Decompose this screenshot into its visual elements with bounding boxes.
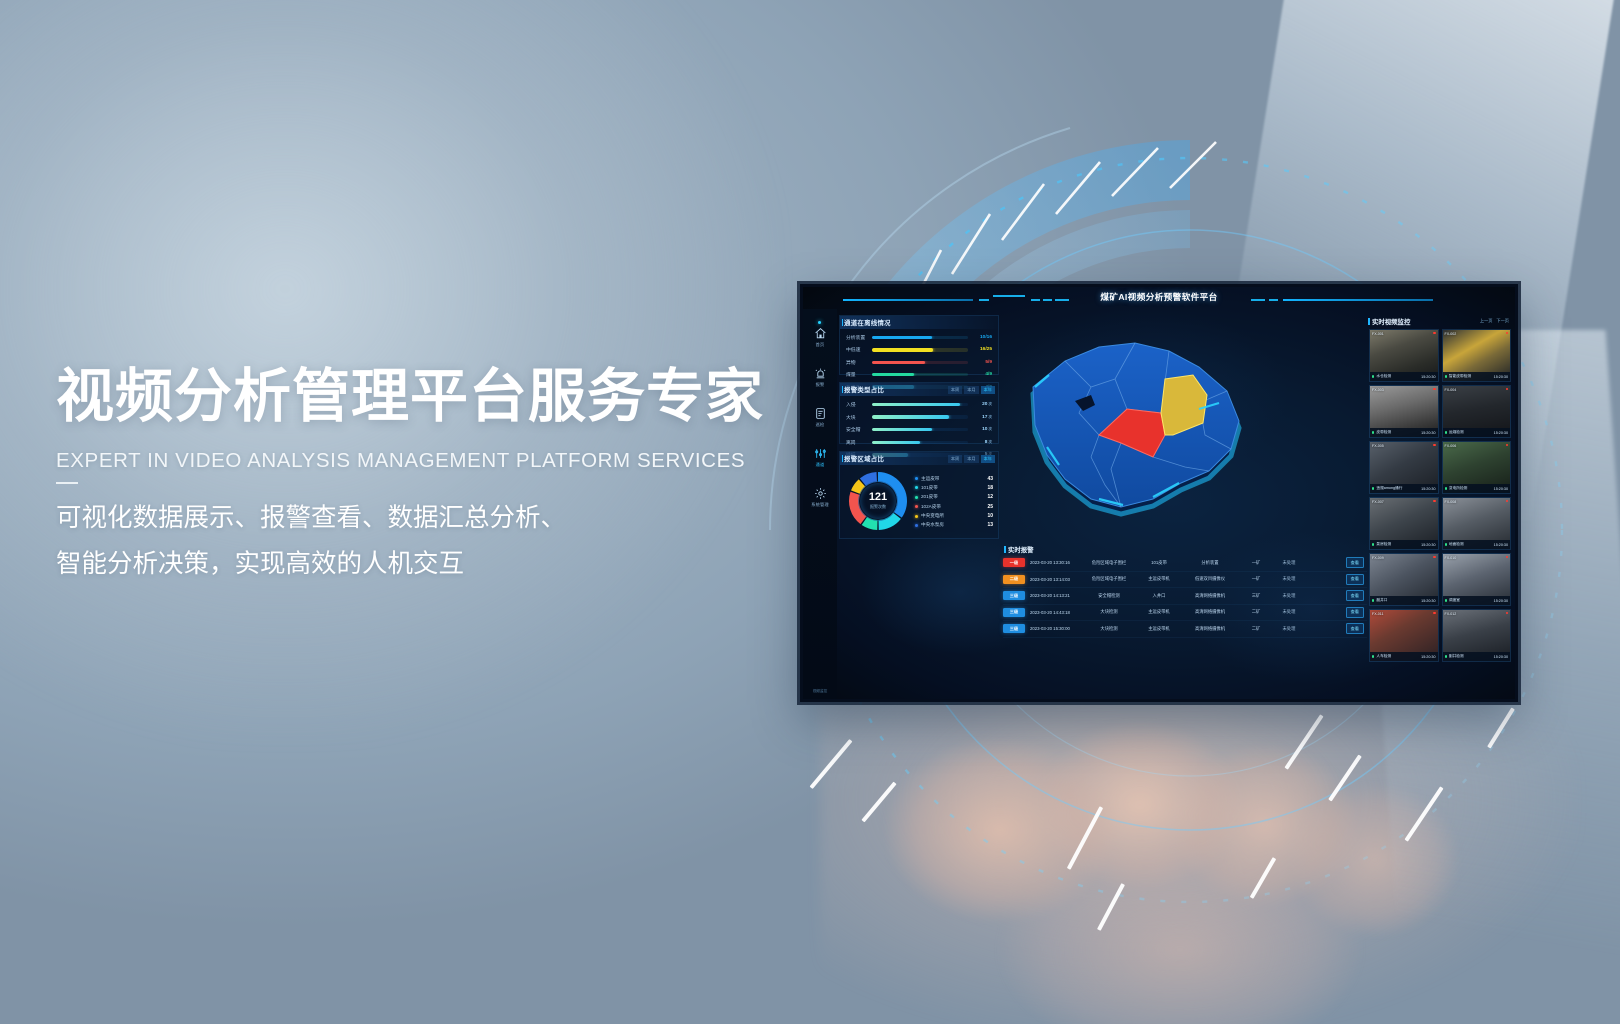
cell-time: 2023-03-20 13:30:16: [1025, 560, 1081, 565]
legend-item: 中央变电所10: [915, 513, 993, 519]
camera-id: FX-010: [1445, 556, 1457, 560]
channel-bar-row: 中低速16/25: [846, 346, 992, 353]
recording-indicator: [1433, 444, 1435, 446]
tile-footer: 违规among通行15:20:30: [1370, 484, 1438, 493]
camera-time: 15:20:30: [1421, 487, 1435, 491]
bar-label: 安全帽: [846, 426, 868, 433]
camera-id: FX-006: [1445, 444, 1457, 448]
tile-footer: 泵房检测15:20:30: [1370, 540, 1438, 549]
dashboard-header: 煤矿AI视频分析预警软件平台: [803, 287, 1515, 313]
marketing-copy: 视频分析管理平台服务专家 EXPERT IN VIDEO ANALYSIS MA…: [56, 366, 816, 587]
description-line-2: 智能分析决策，实现高效的人机交互: [56, 542, 816, 587]
video-monitor-panel: 实时视频监控 上一页 下一页 FX-001水仓检测15:20:30FX-002智…: [1367, 315, 1513, 695]
camera-time: 15:20:30: [1421, 431, 1435, 435]
legend-value: 13: [987, 522, 993, 528]
sidebar-item-label: 通道: [816, 462, 825, 468]
sidebar-item-4[interactable]: 通道: [803, 437, 837, 477]
panel-title: 报警区域占比: [844, 454, 884, 463]
camera-time: 15:20:30: [1494, 375, 1508, 379]
cell-location: 101皮带: [1137, 560, 1181, 566]
video-tile[interactable]: FX-005违规among通行15:20:30: [1369, 441, 1439, 494]
donut-center: 121 报警次数: [860, 483, 896, 519]
legend-value: 10: [987, 513, 993, 519]
dashboard-title: 煤矿AI视频分析预警软件平台: [803, 291, 1515, 303]
bar-value: 17次: [972, 415, 992, 420]
online-status-dot: [1372, 599, 1374, 601]
dashboard-screen: 煤矿AI视频分析预警软件平台 首页报警巡检通道系统管理 视频监控 通道在离线情况…: [803, 287, 1515, 699]
camera-name: 地面检测: [1449, 542, 1494, 547]
bar-label: 分析装置: [846, 334, 868, 341]
alarm-type-row: 大块17次: [846, 414, 992, 421]
cell-status: 未处理: [1273, 609, 1305, 615]
legend-color-dot: [915, 486, 918, 489]
camera-id: FX-012: [1445, 612, 1457, 616]
province-map[interactable]: [1003, 317, 1267, 545]
cell-action: 查看: [1305, 607, 1367, 618]
page-stage: 视频分析管理平台服务专家 EXPERT IN VIDEO ANALYSIS MA…: [0, 0, 1620, 1024]
gear-icon: [814, 487, 827, 500]
recording-indicator: [1433, 332, 1435, 334]
online-status-dot: [1445, 431, 1447, 433]
online-status-dot: [1445, 543, 1447, 545]
sidebar-item-label: 报警: [816, 382, 825, 388]
bar-fill: [872, 336, 932, 339]
bar-fill: [872, 428, 932, 431]
camera-time: 15:20:30: [1494, 655, 1508, 659]
camera-time: 15:20:30: [1421, 375, 1435, 379]
sidebar-item-label: 首页: [816, 342, 825, 348]
cell-mine: 一矿: [1239, 560, 1273, 566]
view-button[interactable]: 查看: [1346, 574, 1364, 585]
tab-本月[interactable]: 本月: [964, 455, 978, 463]
sidebar-item-3[interactable]: 巡检: [803, 397, 837, 437]
legend-value: 18: [987, 485, 993, 491]
cell-device: 低速双目摄像仪: [1181, 576, 1239, 582]
bar-fill: [872, 373, 914, 376]
cell-status: 未处理: [1273, 626, 1305, 632]
tile-footer: 副井口15:20:30: [1370, 596, 1438, 605]
dashboard-monitor: 煤矿AI视频分析预警软件平台 首页报警巡检通道系统管理 视频监控 通道在离线情况…: [800, 284, 1518, 702]
camera-time: 15:20:30: [1494, 599, 1508, 603]
online-status-dot: [1445, 487, 1447, 489]
panel-title: 实时报警: [1008, 545, 1034, 554]
tab-本年[interactable]: 本年: [981, 386, 995, 394]
donut-segment-3[interactable]: [865, 521, 878, 525]
legend-value: 12: [987, 494, 993, 500]
bar-track: [872, 361, 968, 364]
panel-header: 实时报警: [1003, 543, 1367, 555]
video-tile[interactable]: FX-001水仓检测15:20:30: [1369, 329, 1439, 382]
cell-location: 主运皮带机: [1137, 609, 1181, 615]
view-button[interactable]: 查看: [1346, 590, 1364, 601]
camera-name: 运煤检测: [1449, 430, 1494, 435]
channel-bar-row: 煤量4/9: [846, 371, 992, 378]
bar-label: 中低速: [846, 346, 868, 353]
sidebar-item-2[interactable]: 报警: [803, 357, 837, 397]
legend-item: 101皮带18: [915, 485, 993, 491]
tile-footer: 水仓检测15:20:30: [1370, 372, 1438, 381]
cell-action: 查看: [1305, 623, 1367, 634]
bar-track: [872, 373, 968, 376]
camera-id: FX-008: [1445, 500, 1457, 504]
cell-type: 大块检测: [1081, 626, 1137, 632]
bar-value: 20次: [972, 402, 992, 407]
cell-device: 高清网络摄像机: [1181, 609, 1239, 615]
cell-time: 2023-03-20 15:30:00: [1025, 626, 1081, 631]
sidebar-item-1[interactable]: 首页: [803, 317, 837, 357]
tile-footer: 副井检测15:20:30: [1443, 652, 1511, 661]
donut-total-value: 121: [869, 492, 887, 503]
bar-track: [872, 403, 968, 406]
sidebar-nav: 首页报警巡检通道系统管理: [803, 317, 837, 517]
donut-total-caption: 报警次数: [870, 504, 886, 510]
recording-indicator: [1433, 556, 1435, 558]
camera-id: FX-001: [1372, 332, 1384, 336]
camera-time: 15:20:30: [1421, 655, 1435, 659]
camera-id: FX-011: [1372, 612, 1384, 616]
bar-value: 4/9: [972, 372, 992, 377]
online-status-dot: [1372, 655, 1374, 657]
camera-name: 副井口: [1376, 598, 1421, 603]
cell-location: 主运皮带机: [1137, 626, 1181, 632]
legend-color-dot: [915, 515, 918, 518]
video-tile[interactable]: FX-010调度室15:20:30: [1442, 553, 1512, 606]
bar-track: [872, 336, 968, 339]
camera-id: FX-007: [1372, 500, 1384, 504]
bar-label: 大块: [846, 414, 868, 421]
cell-location: 主运皮带机: [1137, 576, 1181, 582]
cell-device: 分析装置: [1181, 560, 1239, 566]
donut-legend: 主运皮带43101皮带18201皮带12102A皮带25中央变电所10中央水泵房…: [915, 474, 993, 529]
legend-value: 25: [987, 504, 993, 510]
recording-indicator: [1433, 612, 1435, 614]
bar-track: [872, 428, 968, 431]
inspection-icon: [814, 407, 827, 420]
bar-value: 10次: [972, 427, 992, 432]
table-row[interactable]: 一级2023-03-20 13:30:16危险区域电子围栏101皮带分析装置一矿…: [1003, 555, 1367, 572]
online-status-dot: [1372, 543, 1374, 545]
video-tile[interactable]: FX-009副井口15:20:30: [1369, 553, 1439, 606]
description-line-1: 可视化数据展示、报警查看、数据汇总分析、: [56, 496, 816, 541]
tile-footer: 调度室15:20:30: [1443, 596, 1511, 605]
table-row[interactable]: 三级2023-03-20 14:43:18大块检测主运皮带机高清网络摄像机二矿未…: [1003, 605, 1367, 622]
video-tile[interactable]: FX-012副井检测15:20:30: [1442, 609, 1512, 662]
cell-type: 安全帽检测: [1081, 593, 1137, 599]
cell-status: 未处理: [1273, 560, 1305, 566]
online-status-dot: [1445, 655, 1447, 657]
level-badge: 三级: [1003, 624, 1025, 633]
camera-time: 15:20:30: [1494, 431, 1508, 435]
bar-label: 异物: [846, 359, 868, 366]
sidebar-footer-label: 视频监控: [803, 689, 837, 694]
cell-status: 未处理: [1273, 576, 1305, 582]
video-tile[interactable]: FX-007泵房检测15:20:30: [1369, 497, 1439, 550]
bar-track: [872, 415, 968, 418]
legend-label: 主运皮带: [921, 476, 984, 482]
cell-action: 查看: [1305, 557, 1367, 568]
bar-value: 5/9: [972, 360, 992, 365]
cell-type: 危险区域电子围栏: [1081, 560, 1137, 566]
time-range-tabs[interactable]: 本周本月本年: [948, 455, 995, 463]
alarm-type-row: 离岗8次: [846, 439, 992, 446]
camera-name: 皮带检测: [1376, 430, 1421, 435]
level-badge: 二级: [1003, 575, 1025, 584]
marketing-description: 可视化数据展示、报警查看、数据汇总分析、 智能分析决策，实现高效的人机交互: [56, 496, 816, 587]
cell-device: 高清网络摄像机: [1181, 593, 1239, 599]
cell-device: 高清网络摄像机: [1181, 626, 1239, 632]
level-badge: 一级: [1003, 558, 1025, 567]
sidebar-item-label: 巡检: [816, 422, 825, 428]
camera-name: 泵房检测: [1376, 542, 1421, 547]
cell-action: 查看: [1305, 590, 1367, 601]
tab-本周[interactable]: 本周: [948, 455, 962, 463]
legend-item: 102A皮带25: [915, 504, 993, 510]
cell-status: 未处理: [1273, 593, 1305, 599]
left-panel-column: 通道在离线情况 分析装置10/16中低速16/25异物5/9煤量4/9热成像4/…: [839, 315, 999, 695]
channel-bar-row: 分析装置10/16: [846, 334, 992, 341]
tile-footer: 智能皮带检测15:20:30: [1443, 372, 1511, 381]
video-tile[interactable]: FX-002智能皮带检测15:20:30: [1442, 329, 1512, 382]
camera-time: 15:20:30: [1494, 487, 1508, 491]
bar-value: 10/16: [972, 335, 992, 340]
alarm-type-panel: 报警类型占比 本周本月本年 入侵20次大块17次安全帽10次离岗8次插杆5次: [839, 382, 999, 444]
next-page-button[interactable]: 下一页: [1496, 318, 1509, 324]
panel-header: 报警区域占比 本周本月本年: [840, 452, 998, 465]
dashboard-sidebar: 首页报警巡检通道系统管理 视频监控: [803, 309, 837, 699]
cell-mine: 三矿: [1239, 593, 1273, 599]
bar-value: 16/25: [972, 347, 992, 352]
donut-chart: 121 报警次数: [847, 470, 909, 532]
page-title: 视频分析管理平台服务专家: [56, 366, 816, 427]
realtime-alarm-panel: 实时报警 一级2023-03-20 13:30:16危险区域电子围栏101皮带分…: [1003, 543, 1367, 695]
camera-name: 调度室: [1449, 598, 1494, 603]
level-badge: 三级: [1003, 608, 1025, 617]
tile-footer: 地面检测15:20:30: [1443, 540, 1511, 549]
camera-name: 变电所检测: [1449, 486, 1494, 491]
camera-name: 人车检测: [1376, 654, 1421, 659]
cell-time: 2023-03-20 14:13:21: [1025, 593, 1081, 598]
channel-status-panel: 通道在离线情况 分析装置10/16中低速16/25异物5/9煤量4/9热成像4/…: [839, 315, 999, 375]
bar-label: 离岗: [846, 439, 868, 446]
legend-value: 43: [987, 476, 993, 482]
sidebar-item-label: 系统管理: [811, 502, 829, 508]
panel-title: 通道在离线情况: [844, 318, 891, 327]
recording-indicator: [1433, 388, 1435, 390]
camera-id: FX-009: [1372, 556, 1384, 560]
online-status-dot: [1372, 487, 1374, 489]
video-tile[interactable]: FX-011人车检测15:20:30: [1369, 609, 1439, 662]
camera-id: FX-005: [1372, 444, 1384, 448]
alarm-type-row: 安全帽10次: [846, 426, 992, 433]
online-status-dot: [1372, 375, 1374, 377]
channel-icon: [814, 447, 827, 460]
cell-mine: 二矿: [1239, 626, 1273, 632]
alarm-area-panel: 报警区域占比 本周本月本年 121 报警次数 主运皮带43101皮带18201皮…: [839, 451, 999, 539]
online-status-dot: [1445, 599, 1447, 601]
legend-item: 201皮带12: [915, 494, 993, 500]
sidebar-item-5[interactable]: 系统管理: [803, 477, 837, 517]
video-tile[interactable]: FX-004运煤检测15:20:30: [1442, 385, 1512, 438]
camera-time: 15:20:30: [1421, 543, 1435, 547]
bar-label: 煤量: [846, 371, 868, 378]
camera-id: FX-003: [1372, 388, 1384, 392]
home-icon: [814, 327, 827, 340]
legend-label: 中央变电所: [921, 513, 984, 519]
recording-indicator: [1433, 500, 1435, 502]
legend-label: 201皮带: [921, 494, 984, 500]
camera-name: 违规among通行: [1376, 486, 1421, 491]
table-row[interactable]: 三级2023-03-20 15:30:00大块检测主运皮带机高清网络摄像机二矿未…: [1003, 621, 1367, 638]
donut-chart-container: 121 报警次数 主运皮带43101皮带18201皮带12102A皮带25中央变…: [840, 465, 998, 534]
video-pager[interactable]: 上一页 下一页: [1480, 318, 1513, 324]
cell-mine: 一矿: [1239, 576, 1273, 582]
panel-title: 实时视频监控: [1372, 317, 1410, 326]
panel-title: 报警类型占比: [844, 385, 884, 394]
bar-fill: [872, 403, 960, 406]
cell-type: 大块检测: [1081, 609, 1137, 615]
alarm-type-row: 入侵20次: [846, 401, 992, 408]
view-button[interactable]: 查看: [1346, 557, 1364, 568]
video-tile-grid: FX-001水仓检测15:20:30FX-002智能皮带检测15:20:30FX…: [1367, 327, 1513, 662]
camera-id: FX-004: [1445, 388, 1457, 392]
legend-label: 102A皮带: [921, 504, 984, 510]
legend-item: 主运皮带43: [915, 476, 993, 482]
tile-footer: 人车检测15:20:30: [1370, 652, 1438, 661]
camera-time: 15:20:30: [1421, 599, 1435, 603]
view-button[interactable]: 查看: [1346, 623, 1364, 634]
channel-bar-row: 异物5/9: [846, 359, 992, 366]
level-badge: 三级: [1003, 591, 1025, 600]
view-button[interactable]: 查看: [1346, 607, 1364, 618]
bar-track: [872, 348, 968, 351]
legend-color-dot: [915, 524, 918, 527]
panel-header: 报警类型占比 本周本月本年: [840, 383, 998, 396]
legend-color-dot: [915, 496, 918, 499]
video-tile[interactable]: FX-008地面检测15:20:30: [1442, 497, 1512, 550]
tab-本年[interactable]: 本年: [981, 455, 995, 463]
bar-fill: [872, 415, 949, 418]
cell-type: 危险区域电子围栏: [1081, 576, 1137, 582]
time-range-tabs[interactable]: 本周本月本年: [948, 386, 995, 394]
bar-fill: [872, 441, 920, 444]
camera-name: 副井检测: [1449, 654, 1494, 659]
alarm-icon: [814, 367, 827, 380]
panel-header: 实时视频监控 上一页 下一页: [1367, 315, 1513, 327]
prev-page-button[interactable]: 上一页: [1480, 318, 1493, 324]
bar-value: 8次: [972, 440, 992, 445]
online-status-dot: [1372, 431, 1374, 433]
legend-color-dot: [915, 477, 918, 480]
legend-item: 中央水泵房13: [915, 522, 993, 528]
tile-footer: 变电所检测15:20:30: [1443, 484, 1511, 493]
table-row[interactable]: 二级2023-03-20 13:14:03危险区域电子围栏主运皮带机低速双目摄像…: [1003, 572, 1367, 589]
online-status-dot: [1445, 375, 1447, 377]
legend-label: 中央水泵房: [921, 522, 984, 528]
panel-header: 通道在离线情况: [840, 316, 998, 329]
tab-本月[interactable]: 本月: [964, 386, 978, 394]
table-row[interactable]: 三级2023-03-20 14:13:21安全帽检测入井口高清网络摄像机三矿未处…: [1003, 588, 1367, 605]
cell-time: 2023-03-20 13:14:03: [1025, 577, 1081, 582]
camera-name: 水仓检测: [1376, 374, 1421, 379]
video-tile[interactable]: FX-003皮带检测15:20:30: [1369, 385, 1439, 438]
bar-fill: [872, 361, 925, 364]
legend-label: 101皮带: [921, 485, 984, 491]
camera-time: 15:20:30: [1494, 543, 1508, 547]
bar-track: [872, 441, 968, 444]
bar-fill: [872, 348, 933, 351]
alarm-table-body: 一级2023-03-20 13:30:16危险区域电子围栏101皮带分析装置一矿…: [1003, 555, 1367, 638]
bar-label: 入侵: [846, 401, 868, 408]
cell-mine: 二矿: [1239, 609, 1273, 615]
subtitle-english: EXPERT IN VIDEO ANALYSIS MANAGEMENT PLAT…: [56, 449, 816, 473]
tile-footer: 皮带检测15:20:30: [1370, 428, 1438, 437]
cell-action: 查看: [1305, 574, 1367, 585]
cell-location: 入井口: [1137, 593, 1181, 599]
tab-本周[interactable]: 本周: [948, 386, 962, 394]
camera-name: 智能皮带检测: [1449, 374, 1494, 379]
cell-time: 2023-03-20 14:43:18: [1025, 610, 1081, 615]
tile-footer: 运煤检测15:20:30: [1443, 428, 1511, 437]
video-tile[interactable]: FX-006变电所检测15:20:30: [1442, 441, 1512, 494]
legend-color-dot: [915, 505, 918, 508]
camera-id: FX-002: [1445, 332, 1457, 336]
divider-rule: [56, 482, 78, 484]
